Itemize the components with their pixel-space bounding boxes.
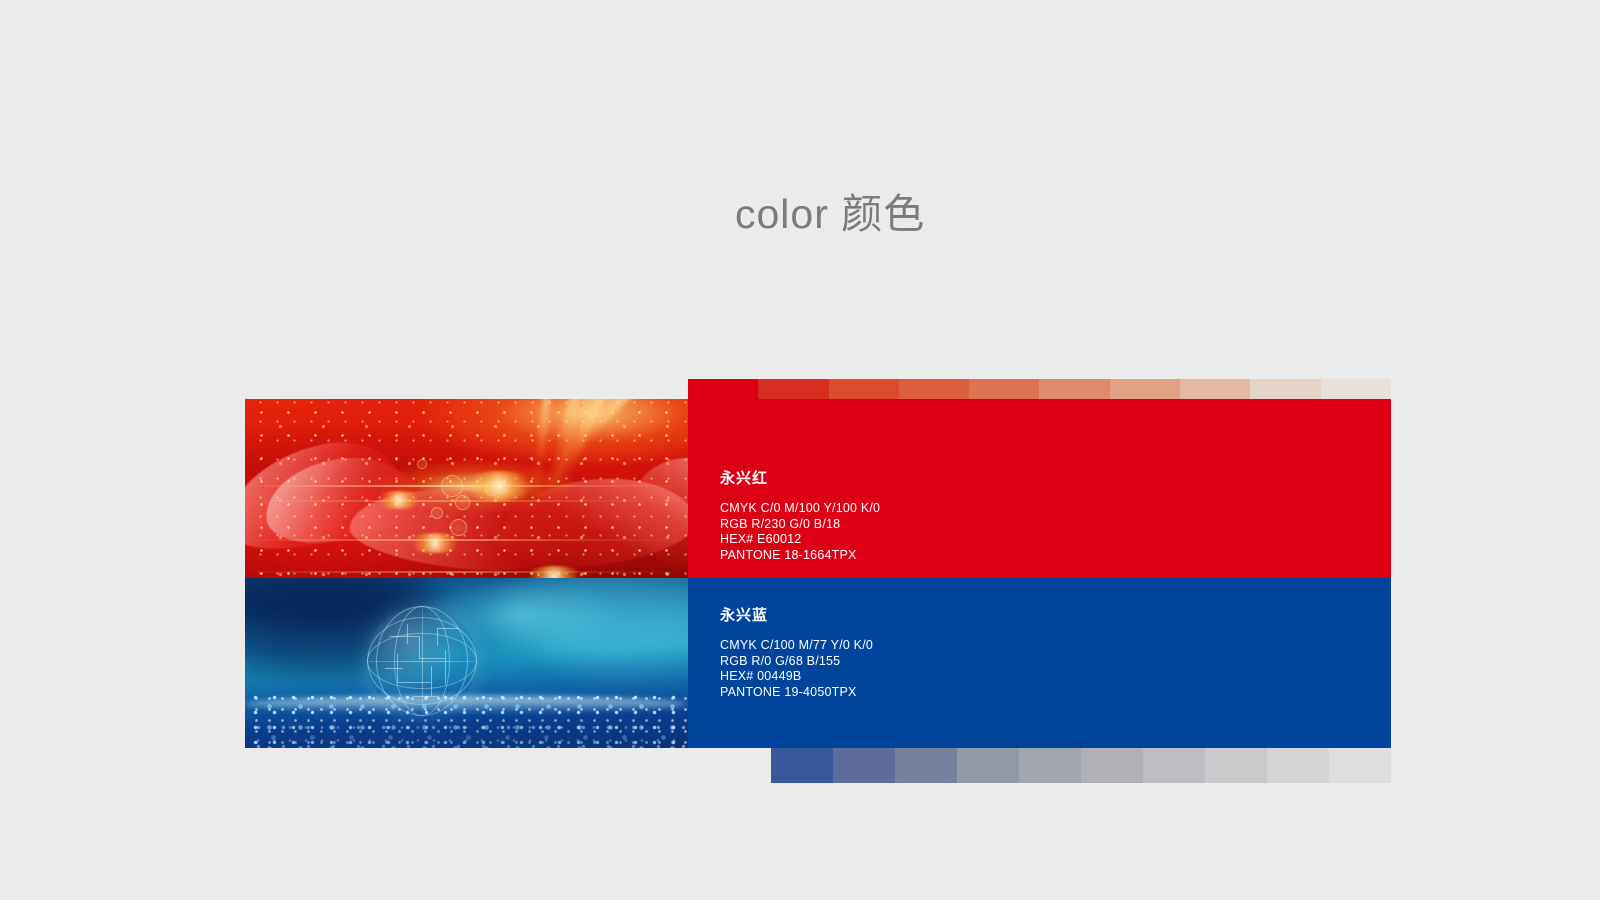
- red-swatch-name: 永兴红: [720, 467, 880, 488]
- page-title-en: color: [735, 191, 829, 237]
- blue-tint-swatch-5: [1081, 748, 1143, 783]
- blue-tint-swatch-1: [833, 748, 895, 783]
- color-board: 永兴红 CMYK C/0 M/100 Y/100 K/0 RGB R/230 G…: [245, 366, 1391, 783]
- red-spec-hex: HEX# E60012: [720, 532, 880, 548]
- red-thumbnail: [245, 399, 688, 578]
- blue-tint-swatch-6: [1143, 748, 1205, 783]
- blue-tint-strip: [771, 748, 1391, 783]
- page-title: color 颜色: [735, 180, 925, 240]
- red-tint-swatch-9: [1321, 379, 1391, 399]
- red-tint-swatch-4: [969, 379, 1039, 399]
- blue-artwork-image: [245, 578, 688, 748]
- color-row-blue: 永兴蓝 CMYK C/100 M/77 Y/0 K/0 RGB R/0 G/68…: [245, 578, 1391, 748]
- red-spec-rgb: RGB R/230 G/0 B/18: [720, 517, 880, 533]
- red-tint-strip: [688, 379, 1391, 399]
- red-spec-cmyk: CMYK C/0 M/100 Y/100 K/0: [720, 501, 880, 517]
- red-tint-swatch-1: [758, 379, 828, 399]
- blue-swatch-name: 永兴蓝: [720, 604, 873, 625]
- blue-spec-panel: 永兴蓝 CMYK C/100 M/77 Y/0 K/0 RGB R/0 G/68…: [688, 578, 1391, 748]
- blue-tint-swatch-2: [895, 748, 957, 783]
- blue-spec-rgb: RGB R/0 G/68 B/155: [720, 654, 873, 670]
- blue-spec-hex: HEX# 00449B: [720, 669, 873, 685]
- color-row-red: 永兴红 CMYK C/0 M/100 Y/100 K/0 RGB R/230 G…: [245, 399, 1391, 578]
- blue-thumbnail: [245, 578, 688, 748]
- red-artwork-image: [245, 399, 688, 578]
- red-tint-swatch-5: [1039, 379, 1109, 399]
- red-tint-swatch-3: [899, 379, 969, 399]
- red-tint-swatch-7: [1180, 379, 1250, 399]
- red-spec-pantone: PANTONE 18-1664TPX: [720, 548, 880, 564]
- red-tint-swatch-2: [829, 379, 899, 399]
- blue-tint-swatch-0: [771, 748, 833, 783]
- blue-tint-swatch-9: [1329, 748, 1391, 783]
- blue-tint-swatch-7: [1205, 748, 1267, 783]
- red-tint-swatch-6: [1110, 379, 1180, 399]
- red-tint-swatch-0: [688, 379, 758, 399]
- blue-spec-cmyk: CMYK C/100 M/77 Y/0 K/0: [720, 638, 873, 654]
- blue-spec-pantone: PANTONE 19-4050TPX: [720, 685, 873, 701]
- red-spec-panel: 永兴红 CMYK C/0 M/100 Y/100 K/0 RGB R/230 G…: [688, 399, 1391, 578]
- blue-tint-swatch-4: [1019, 748, 1081, 783]
- blue-tint-swatch-8: [1267, 748, 1329, 783]
- blue-tint-swatch-3: [957, 748, 1019, 783]
- page-title-cn: 颜色: [841, 191, 925, 237]
- red-tint-swatch-8: [1250, 379, 1320, 399]
